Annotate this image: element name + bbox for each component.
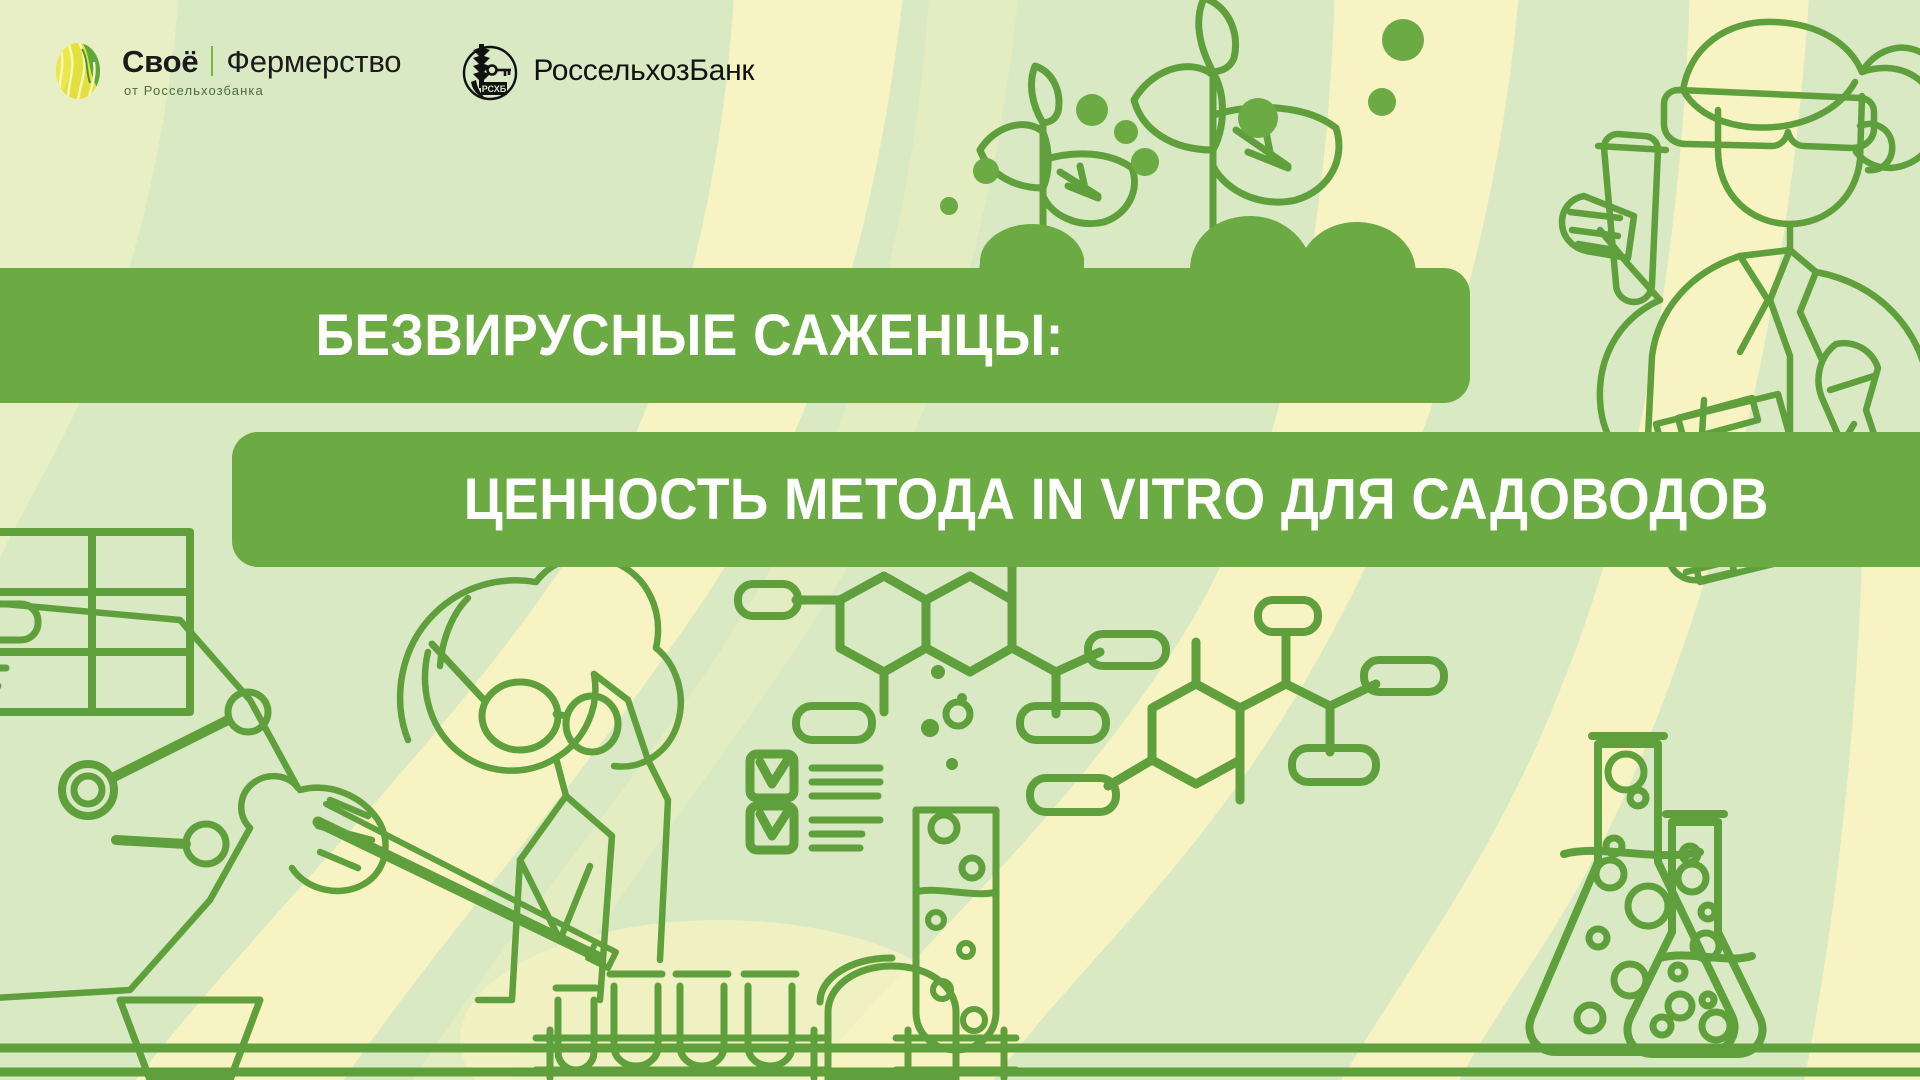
title-line-1: БЕЗВИРУСНЫЕ САЖЕНЦЫ: <box>316 302 1064 369</box>
rosselkhozbank-logo[interactable]: РСХБ РоссельхозБанк <box>459 40 754 102</box>
svoe-word: Своё <box>122 46 198 77</box>
rosselkhozbank-logo-mark: РСХБ <box>459 40 521 102</box>
fermerstvo-word: Фермерство <box>226 46 401 77</box>
svoe-fermerstvo-logo-mark <box>48 41 108 101</box>
poster-canvas: Своё Фермерство от Россельхозбанка <box>0 0 1920 1080</box>
svg-text:РСХБ: РСХБ <box>482 84 507 94</box>
title-banner-secondary: ЦЕННОСТЬ МЕТОДА IN VITRO ДЛЯ САДОВОДОВ <box>232 432 1920 567</box>
rosselkhozbank-wordmark: РоссельхозБанк <box>533 54 754 88</box>
title-banner-primary: БЕЗВИРУСНЫЕ САЖЕНЦЫ: <box>0 268 1470 403</box>
logo-divider <box>211 46 213 76</box>
logo-bar: Своё Фермерство от Россельхозбанка <box>48 40 754 102</box>
svoe-fermerstvo-wordmark: Своё Фермерство от Россельхозбанка <box>122 46 401 97</box>
title-line-2: ЦЕННОСТЬ МЕТОДА IN VITRO ДЛЯ САДОВОДОВ <box>463 466 1768 533</box>
svoe-subtitle: от Россельхозбанка <box>124 84 401 97</box>
svoe-fermerstvo-logo[interactable]: Своё Фермерство от Россельхозбанка <box>48 41 401 101</box>
